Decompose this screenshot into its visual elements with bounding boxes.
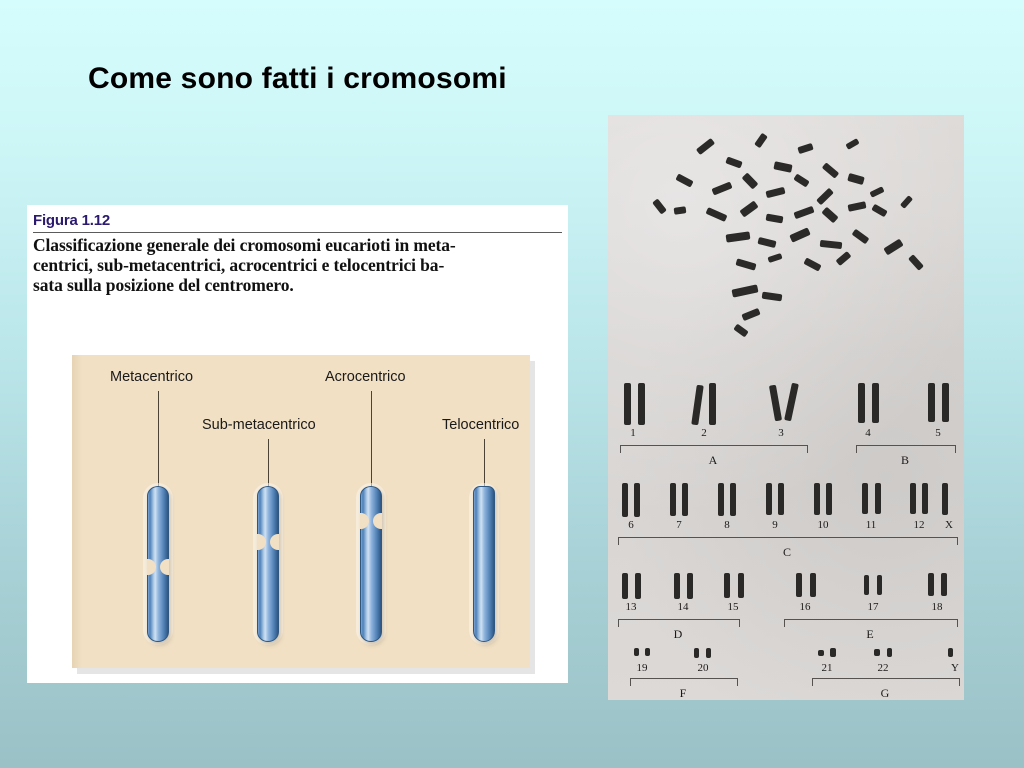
panel-edge-shade xyxy=(72,355,82,668)
group-bracket-c xyxy=(618,537,958,545)
figure-caption-line-3: sata sulla posizione del centromero. xyxy=(33,276,562,296)
pair-number: 8 xyxy=(712,519,742,531)
figure-number-label: Figura 1.12 xyxy=(33,212,110,229)
page-title: Come sono fatti i cromosomi xyxy=(88,62,507,96)
pair-number: 16 xyxy=(790,601,820,613)
chromosome-telocentrico xyxy=(473,486,495,642)
centromere-notch-left xyxy=(147,559,156,575)
pair-number: 11 xyxy=(856,519,886,531)
pair-number: X xyxy=(934,519,964,531)
group-bracket-b xyxy=(856,445,956,453)
centromere-notch-right xyxy=(160,559,169,575)
caption-divider xyxy=(33,232,562,233)
pair-number: 15 xyxy=(718,601,748,613)
pair-number: 14 xyxy=(668,601,698,613)
pair-number: 7 xyxy=(664,519,694,531)
karyotype-row-4: 19 20 21 22 Y F G xyxy=(608,648,964,700)
label-sub-metacentrico: Sub-metacentrico xyxy=(202,417,316,433)
pair-number: 20 xyxy=(688,662,718,674)
group-bracket-f xyxy=(630,678,738,686)
group-letter-b: B xyxy=(856,453,954,468)
leader-line-metacentrico xyxy=(158,391,159,487)
karyotype-row-2: 6 7 8 9 10 11 12 xyxy=(608,483,964,568)
leader-line-telocentrico xyxy=(484,439,485,487)
group-letter-g: G xyxy=(812,686,958,700)
pair-number: 2 xyxy=(689,427,719,439)
pair-number: 12 xyxy=(904,519,934,531)
centromere-notch-right xyxy=(373,513,382,529)
karyotype-row-1: 1 2 3 4 5 A B xyxy=(608,383,964,473)
group-letter-e: E xyxy=(784,627,956,642)
pair-number: 4 xyxy=(853,427,883,439)
pair-number: 9 xyxy=(760,519,790,531)
group-bracket-a xyxy=(620,445,808,453)
leader-line-sub-metacentrico xyxy=(268,439,269,487)
pair-number: Y xyxy=(940,662,964,674)
label-acrocentrico: Acrocentrico xyxy=(325,369,406,385)
centromere-notch-right xyxy=(270,534,279,550)
label-metacentrico: Metacentrico xyxy=(110,369,193,385)
figure-caption-line-1: Classificazione generale dei cromosomi e… xyxy=(33,236,562,256)
chromosome-sub-metacentrico xyxy=(257,486,279,642)
pair-number: 1 xyxy=(618,427,648,439)
pair-number: 3 xyxy=(766,427,796,439)
group-letter-f: F xyxy=(630,686,736,700)
pair-number: 10 xyxy=(808,519,838,531)
label-telocentrico: Telocentrico xyxy=(442,417,519,433)
metaphase-spread xyxy=(608,115,964,385)
pair-number: 21 xyxy=(812,662,842,674)
group-bracket-g xyxy=(812,678,960,686)
pair-number: 22 xyxy=(868,662,898,674)
leader-line-acrocentrico xyxy=(371,391,372,487)
figure-caption-line-2: centrici, sub-metacentrici, acrocentrici… xyxy=(33,256,562,276)
group-letter-d: D xyxy=(618,627,738,642)
figure-caption-block: Figura 1.12 Classificazione generale dei… xyxy=(27,205,568,296)
pair-number: 17 xyxy=(858,601,888,613)
group-bracket-e xyxy=(784,619,958,627)
pair-number: 19 xyxy=(627,662,657,674)
pair-number: 5 xyxy=(923,427,953,439)
chromosome-diagram-panel: Metacentrico Sub-metacentrico Acrocentri… xyxy=(72,355,530,668)
figure-card: Figura 1.12 Classificazione generale dei… xyxy=(27,205,568,683)
karyotype-photo: 1 2 3 4 5 A B 6 xyxy=(608,115,964,700)
centromere-notch-left xyxy=(360,513,369,529)
group-letter-a: A xyxy=(620,453,806,468)
karyotype-row-3: 13 14 15 16 17 18 D E xyxy=(608,573,964,658)
pair-number: 13 xyxy=(616,601,646,613)
centromere-notch-left xyxy=(257,534,266,550)
chromosome-acrocentrico xyxy=(360,486,382,642)
pair-number: 18 xyxy=(922,601,952,613)
chromosome-metacentrico xyxy=(147,486,169,642)
pair-number: 6 xyxy=(616,519,646,531)
group-letter-c: C xyxy=(618,545,956,560)
group-bracket-d xyxy=(618,619,740,627)
